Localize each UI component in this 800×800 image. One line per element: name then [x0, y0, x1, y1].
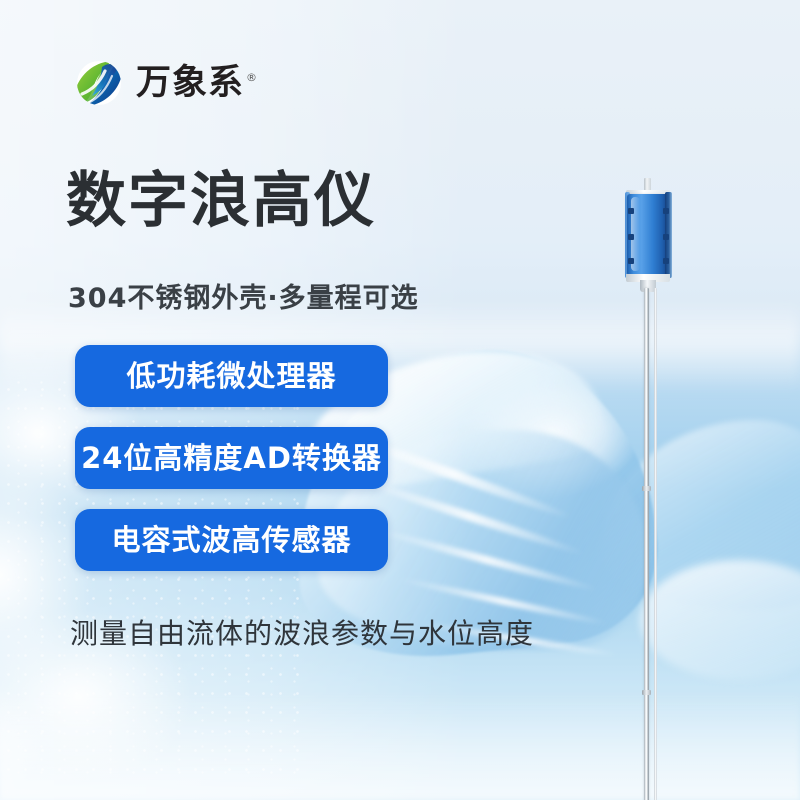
probe-rod-primary	[644, 288, 649, 800]
page-subtitle: 304不锈钢外壳·多量程可选	[68, 276, 419, 315]
brand-logo: 万象系®	[74, 58, 258, 108]
probe-rod-spacer	[642, 486, 651, 491]
sensor-screw	[663, 258, 669, 264]
sensor-screw	[628, 258, 634, 264]
probe-rod-secondary	[654, 288, 657, 800]
sensor-screw	[628, 208, 634, 214]
feature-badge-microprocessor[interactable]: 低功耗微处理器	[75, 345, 388, 407]
product-tagline: 测量自由流体的波浪参数与水位高度	[70, 612, 534, 652]
feature-badge-list: 低功耗微处理器 24位高精度AD转换器 电容式波高传感器	[75, 345, 388, 591]
feature-badge-label: 电容式波高传感器	[111, 526, 351, 555]
product-image-wave-height-sensor	[600, 170, 720, 800]
feature-badge-wave-sensor[interactable]: 电容式波高传感器	[75, 509, 388, 571]
globe-swoosh-icon	[74, 58, 124, 108]
product-poster: 万象系® 数字浪高仪 304不锈钢外壳·多量程可选 低功耗微处理器 24位高精度…	[0, 0, 800, 800]
sensor-screw	[628, 234, 634, 240]
registered-trademark-icon: ®	[246, 71, 258, 84]
brand-name-text: 万象系	[136, 63, 244, 103]
feature-badge-ad-converter[interactable]: 24位高精度AD转换器	[75, 427, 388, 489]
feature-badge-label: 24位高精度AD转换器	[81, 444, 382, 473]
sensor-screw	[663, 208, 669, 214]
feature-badge-label: 低功耗微处理器	[126, 362, 336, 391]
probe-rod-spacer	[642, 690, 651, 695]
brand-name: 万象系®	[136, 66, 258, 101]
sensor-screw	[663, 234, 669, 240]
page-title: 数字浪高仪	[66, 168, 376, 234]
